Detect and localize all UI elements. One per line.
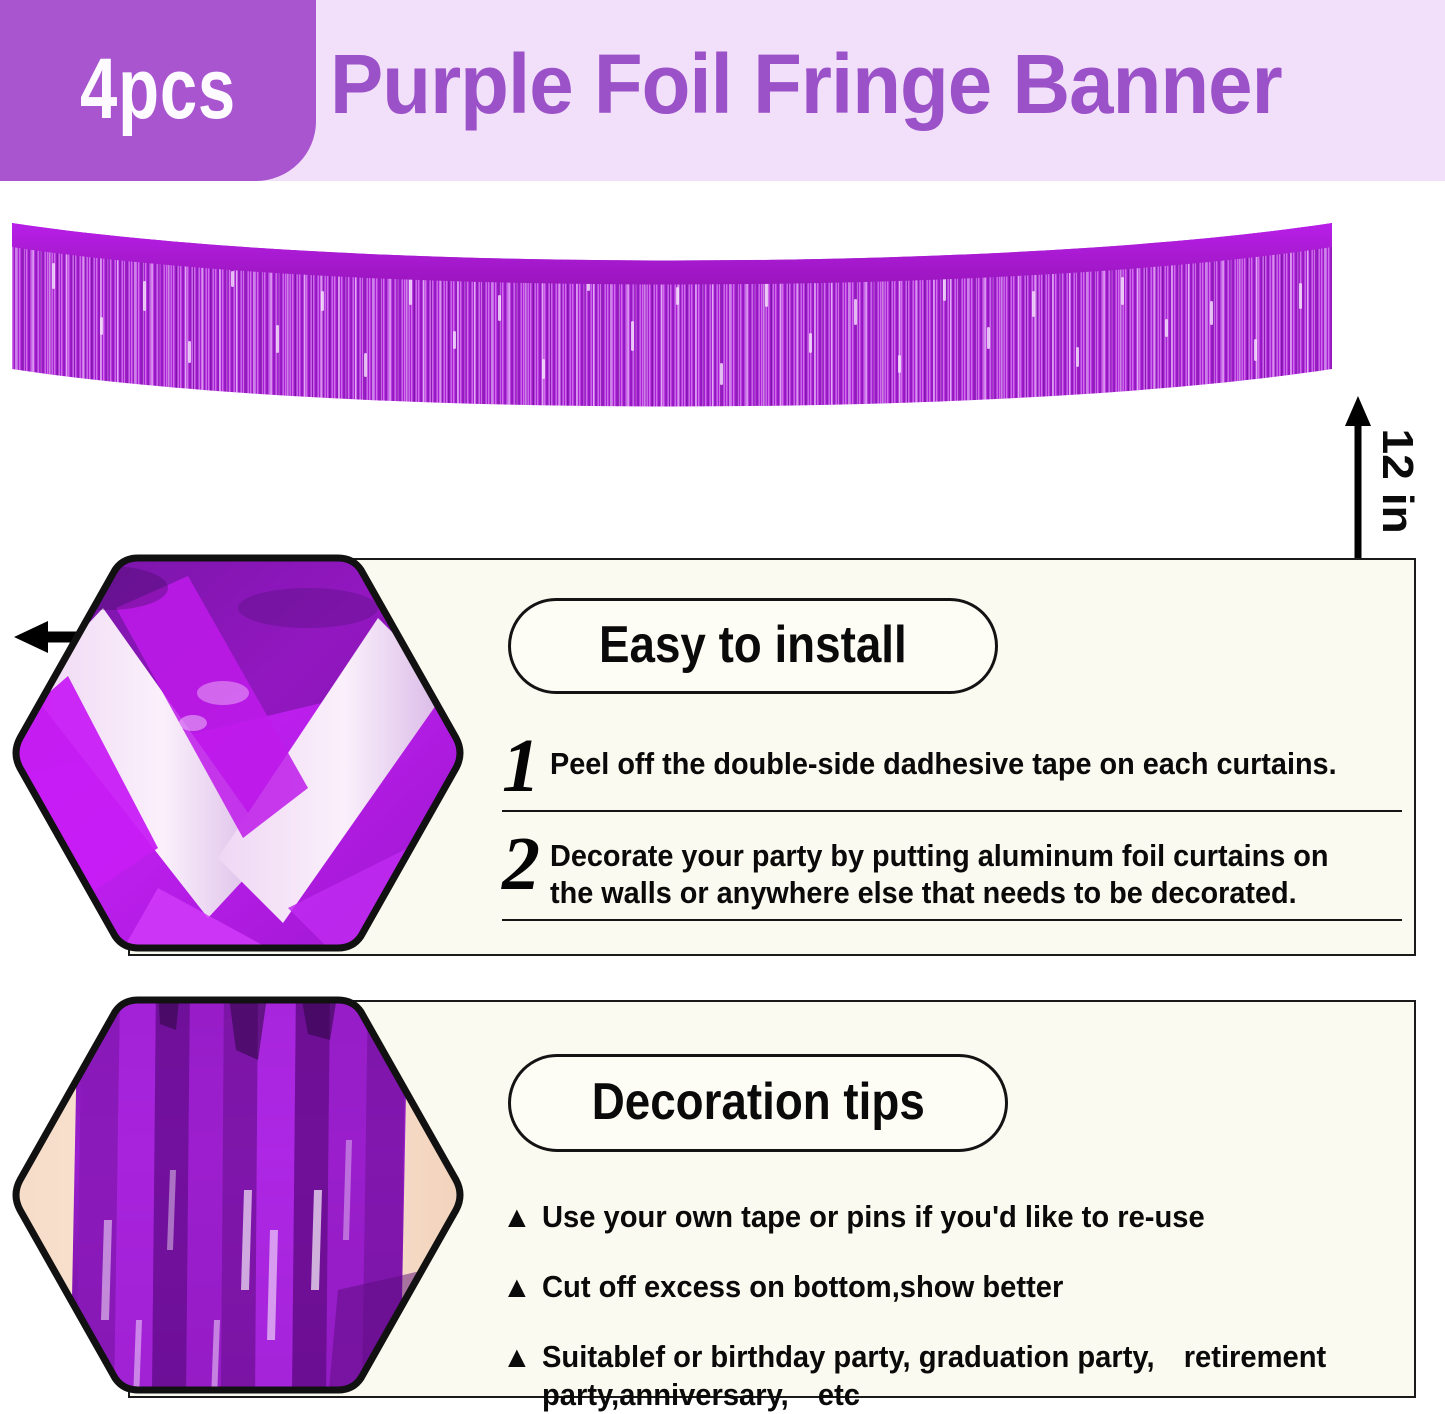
install-step-1-text: Peel off the double-side dadhesive tape … [550,738,1342,783]
tip-item-1: ▲ Use your own tape or pins if you'd lik… [502,1198,1382,1236]
fringe-banner-photo [12,221,1332,421]
install-photo-hexagon [8,548,468,958]
fringe-banner-illustration [12,221,1332,421]
install-heading-label: Easy to install [599,615,907,675]
tip-item-3: ▲ Suitablef or birthday party, graduatio… [502,1338,1402,1414]
install-step-1: 1 Peel off the double-side dadhesive tap… [502,738,1402,812]
triangle-bullet-icon: ▲ [502,1341,542,1374]
tip-item-1-text: Use your own tape or pins if you'd like … [542,1198,1332,1236]
install-panel-body: Easy to install 1 Peel off the double-si… [490,560,1392,954]
install-step-1-number: 1 [502,732,550,802]
header-band: 4pcs Purple Foil Fringe Banner [0,0,1445,181]
hanging-curtain-photo [8,990,468,1400]
hero-product-area: 12 in 10 ft [0,181,1445,541]
tips-photo-hexagon [8,990,468,1400]
tips-panel-body: Decoration tips ▲ Use your own tape or p… [490,1002,1392,1396]
foil-closeup-photo [8,548,468,958]
install-step-2-number: 2 [502,830,550,900]
tips-heading-label: Decoration tips [591,1072,924,1132]
tip-item-2: ▲ Cut off excess on bottom,show better [502,1268,1382,1306]
install-step-2-text: Decorate your party by putting aluminum … [550,836,1342,911]
tip-item-2-text: Cut off excess on bottom,show better [542,1268,1332,1306]
height-dimension-label: 12 in [1372,428,1422,533]
install-step-2: 2 Decorate your party by putting aluminu… [502,836,1402,921]
triangle-bullet-icon: ▲ [502,1201,542,1234]
quantity-badge-label: 4pcs [80,46,236,132]
quantity-badge: 4pcs [0,0,316,181]
page-title: Purple Foil Fringe Banner [330,0,1375,175]
tip-item-3-text: Suitablef or birthday party, graduation … [542,1338,1350,1414]
triangle-bullet-icon: ▲ [502,1271,542,1304]
install-heading-pill: Easy to install [508,598,998,694]
tips-heading-pill: Decoration tips [508,1054,1008,1152]
